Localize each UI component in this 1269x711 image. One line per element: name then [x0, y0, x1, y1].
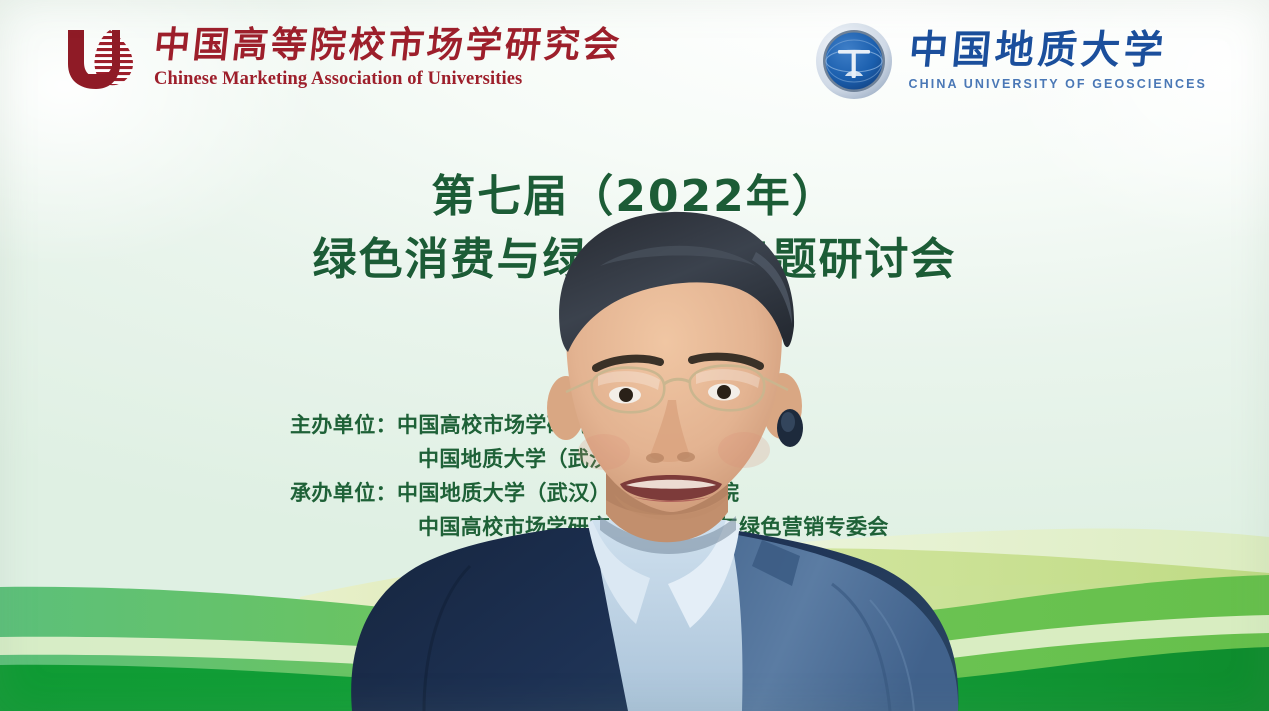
organizer-value-0: 中国高校市场学研究会: [397, 413, 611, 437]
organizer-block: 主办单位：中国高校市场学研究会 中国地质大学（武汉） 承办单位：中国地质大学（武…: [290, 408, 889, 544]
cmau-english-name: Chinese Marketing Association of Univers…: [154, 70, 622, 89]
cug-logo: 中国地质大学 CHINA UNIVERSITY OF GEOSCIENCES: [815, 22, 1207, 100]
organizer-value-2: 中国地质大学（武汉）经济管理学院: [397, 481, 739, 505]
slide-title-line-1: 第七届（2022年）: [0, 172, 1269, 221]
organizer-row: 承办单位：中国地质大学（武汉）经济管理学院: [290, 476, 889, 510]
cug-english-name: CHINA UNIVERSITY OF GEOSCIENCES: [909, 78, 1207, 91]
video-frame: 中国高等院校市场学研究会 Chinese Marketing Associati…: [0, 0, 1269, 711]
slide-title-line-2: 绿色消费与绿色营销专题研讨会: [0, 235, 1269, 284]
cug-chinese-name: 中国地质大学: [907, 31, 1209, 70]
cmau-chinese-name: 中国高等院校市场学研究会: [152, 27, 624, 63]
organizer-label-2: 承办单位：: [290, 476, 397, 510]
organizer-row: 中国地质大学（武汉）: [290, 442, 889, 476]
organizer-value-3: 中国高校市场学研究会绿色消费与绿色营销专委会: [418, 515, 889, 539]
cmau-logo: 中国高等院校市场学研究会 Chinese Marketing Associati…: [58, 24, 622, 92]
cmau-u-monogram-icon: [58, 24, 140, 92]
organizer-value-1: 中国地质大学（武汉）: [418, 447, 632, 471]
organizer-label-0: 主办单位：: [290, 408, 397, 442]
cug-globe-emblem-icon: [815, 22, 893, 100]
slide-title-block: 第七届（2022年） 绿色消费与绿色营销专题研讨会: [0, 172, 1269, 285]
organizer-row: 中国高校市场学研究会绿色消费与绿色营销专委会: [290, 510, 889, 544]
organizer-row: 主办单位：中国高校市场学研究会: [290, 408, 889, 442]
